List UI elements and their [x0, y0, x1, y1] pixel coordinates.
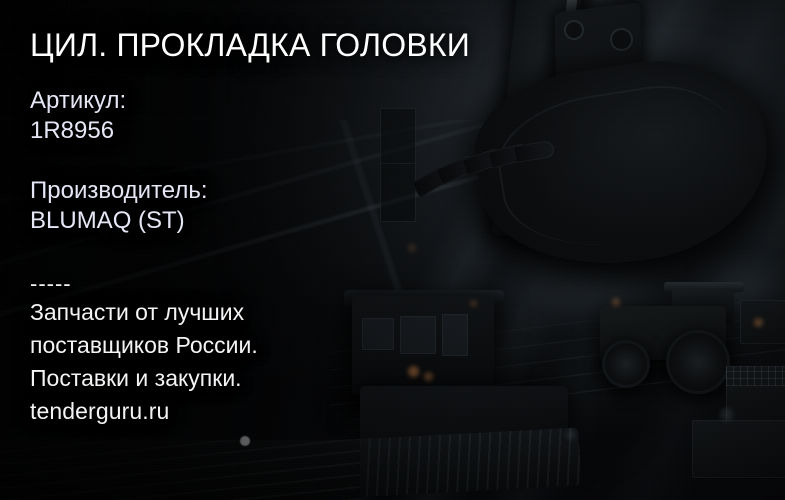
promo-line-3: Поставки и закупки. — [30, 362, 258, 395]
article-label: Артикул: — [30, 86, 126, 116]
product-banner-card: ЦИЛ. ПРОКЛАДКА ГОЛОВКИ Артикул: 1R8956 П… — [0, 0, 785, 500]
article-block: Артикул: 1R8956 — [30, 86, 126, 146]
manufacturer-label: Производитель: — [30, 176, 208, 206]
banner-content: ЦИЛ. ПРОКЛАДКА ГОЛОВКИ Артикул: 1R8956 П… — [30, 0, 785, 500]
site-url[interactable]: tenderguru.ru — [30, 395, 258, 428]
promo-block: ----- Запчасти от лучших поставщиков Рос… — [30, 272, 258, 428]
article-value: 1R8956 — [30, 116, 126, 146]
manufacturer-value: BLUMAQ (ST) — [30, 206, 208, 236]
promo-line-2: поставщиков России. — [30, 329, 258, 362]
manufacturer-block: Производитель: BLUMAQ (ST) — [30, 176, 208, 236]
product-title: ЦИЛ. ПРОКЛАДКА ГОЛОВКИ — [30, 26, 470, 64]
promo-divider: ----- — [30, 272, 258, 296]
promo-line-1: Запчасти от лучших — [30, 296, 258, 329]
